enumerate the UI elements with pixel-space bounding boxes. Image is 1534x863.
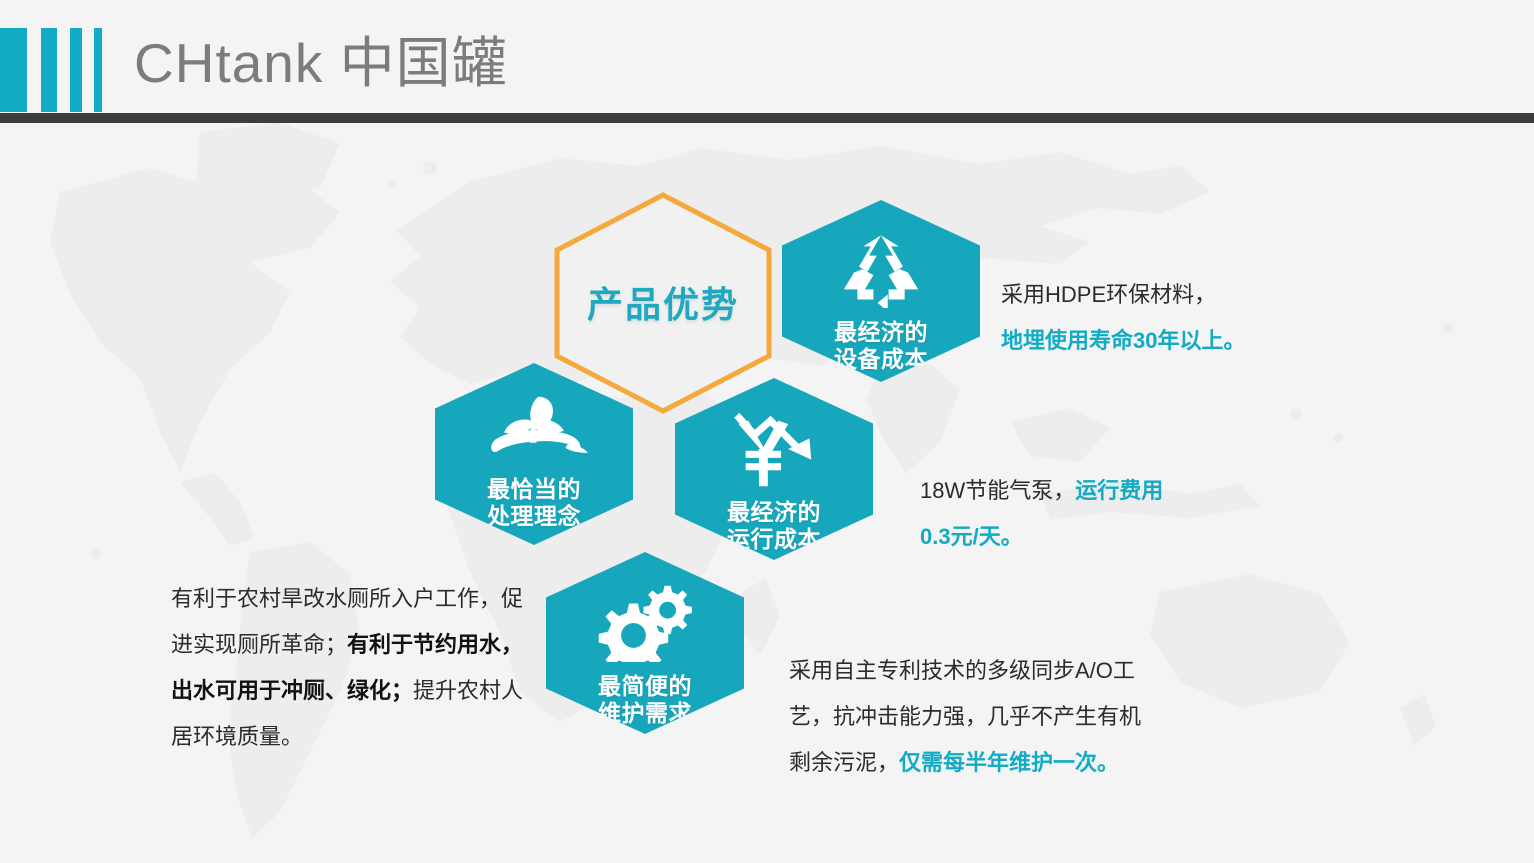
caption-line-1: 最简便的 <box>598 673 692 700</box>
hexagon-caption: 最经济的 设备成本 <box>834 319 928 373</box>
brand-bar-2 <box>41 28 57 112</box>
note-pump: 18W节能气泵，运行费用0.3元/天。 <box>920 468 1170 560</box>
brand-bars <box>0 28 102 112</box>
caption-line-2: 运行成本 <box>727 526 821 553</box>
caption-line-1: 最恰当的 <box>487 476 581 503</box>
slide-header: CHtank 中国罐 <box>0 0 1534 113</box>
hexagon-caption: 最恰当的 处理理念 <box>487 476 581 530</box>
center-hexagon[interactable]: 产品优势 <box>554 192 772 414</box>
hexagon-maintenance[interactable]: 最简便的 维护需求 <box>546 552 744 734</box>
note-material-plain: 采用HDPE环保材料， <box>1001 282 1216 307</box>
note-toilet: 有利于农村旱改水厕所入户工作，促进实现厕所革命；有利于节约用水，出水可用于冲厕、… <box>171 576 531 760</box>
note-material-highlight: 地埋使用寿命30年以上。 <box>1001 328 1245 353</box>
hexagon-caption: 最经济的 运行成本 <box>727 499 821 553</box>
note-tech: 采用自主专利技术的多级同步A/O工艺，抗冲击能力强，几乎不产生有机剩余污泥，仅需… <box>789 648 1161 786</box>
caption-line-1: 最经济的 <box>834 319 928 346</box>
caption-line-1: 最经济的 <box>727 499 821 526</box>
center-hexagon-title: 产品优势 <box>554 276 772 328</box>
brand-bar-3 <box>70 28 82 112</box>
caption-line-2: 设备成本 <box>834 346 928 373</box>
hexagon-equipment-cost[interactable]: 最经济的 设备成本 <box>782 200 980 382</box>
caption-line-2: 处理理念 <box>487 503 581 530</box>
page-title: CHtank 中国罐 <box>134 27 508 99</box>
yen-down-arrow-icon <box>724 410 824 493</box>
header-divider <box>0 113 1534 123</box>
brand-bar-4 <box>94 28 102 112</box>
slide-canvas: CHtank 中国罐 产品优势 最经济的 设备成本 <box>0 0 1534 863</box>
brand-bar-1 <box>0 28 27 112</box>
note-tech-highlight: 仅需每半年维护一次。 <box>899 750 1119 775</box>
gears-icon <box>595 584 695 667</box>
recycle-icon <box>838 232 924 313</box>
caption-line-2: 维护需求 <box>598 700 692 727</box>
note-pump-plain: 18W节能气泵， <box>920 478 1075 503</box>
note-material: 采用HDPE环保材料， 地埋使用寿命30年以上。 <box>1001 272 1301 364</box>
sprout-icon <box>478 395 590 470</box>
hexagon-caption: 最简便的 维护需求 <box>598 673 692 727</box>
